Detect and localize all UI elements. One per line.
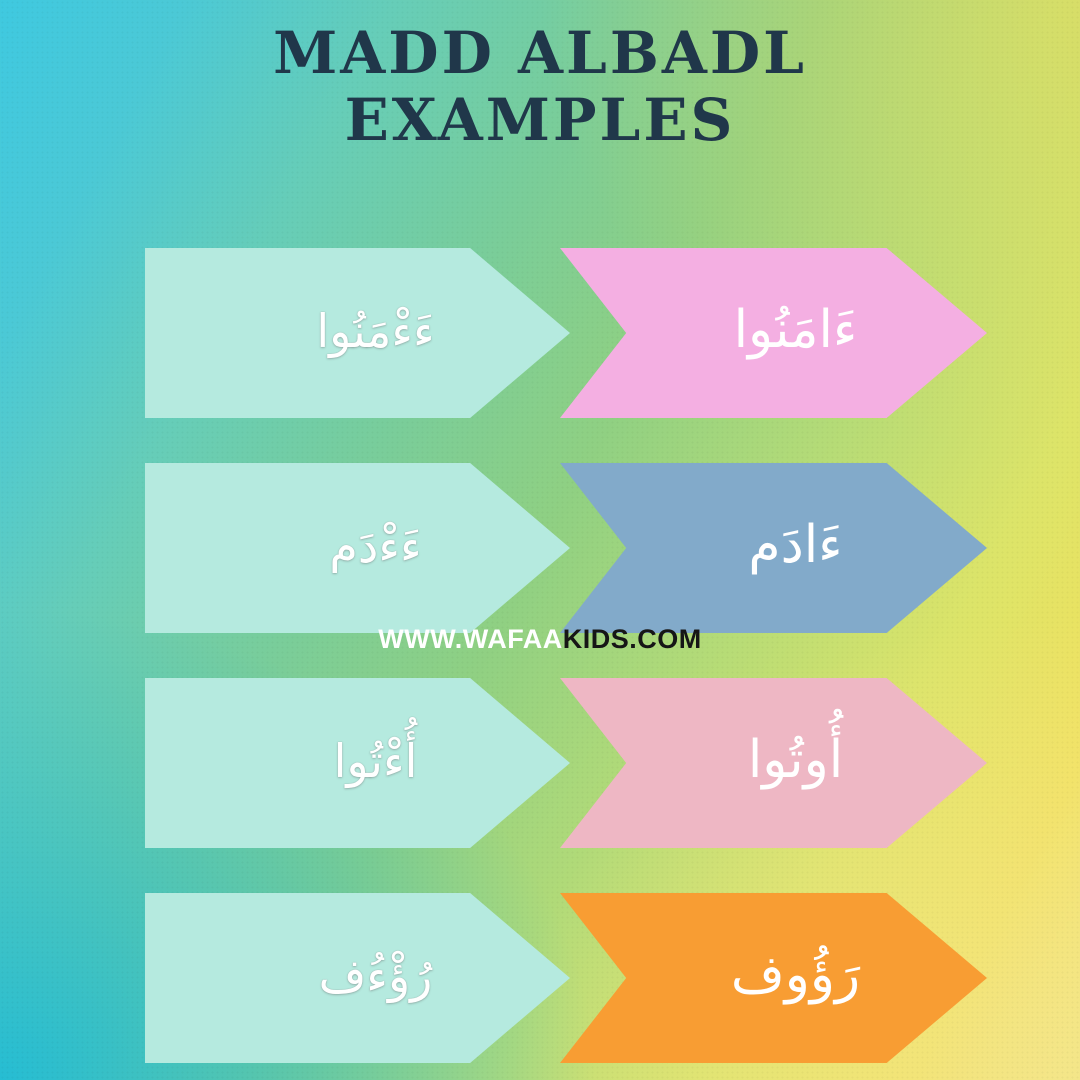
after-word-arrow[interactable]: رَؤُوف [560, 893, 987, 1063]
example-row: أُءْتُوا أُوتُوا [0, 678, 1080, 848]
title-line-1: MADD ALBADL [0, 22, 1080, 85]
example-row: ءَءْمَنُوا ءَامَنُوا [0, 248, 1080, 418]
after-word-text: ءَامَنُوا [734, 293, 858, 372]
after-word-text: أُوتُوا [748, 723, 843, 802]
examples-list: ءَءْمَنُوا ءَامَنُوا ءَءْدَم ءَادَم أُءْ… [0, 248, 1080, 1080]
after-word-text: ءَادَم [748, 508, 842, 587]
after-word-arrow[interactable]: أُوتُوا [560, 678, 987, 848]
before-word-arrow[interactable]: أُءْتُوا [145, 678, 570, 848]
before-word-text: ءَءْدَم [329, 513, 421, 584]
site-watermark: WWW.WAFAAKIDS.COM [0, 624, 1080, 655]
watermark-dark-part: KIDS.COM [563, 624, 702, 654]
before-word-arrow[interactable]: رُؤْءُف [145, 893, 570, 1063]
poster-canvas: MADD ALBADL EXAMPLES ءَءْمَنُوا ءَامَنُو… [0, 0, 1080, 1080]
page-title: MADD ALBADL EXAMPLES [0, 22, 1080, 151]
before-word-arrow[interactable]: ءَءْمَنُوا [145, 248, 570, 418]
before-word-text: ءَءْمَنُوا [316, 298, 434, 369]
before-word-text: رُؤْءُف [319, 943, 433, 1014]
watermark-light-part: WWW.WAFAA [378, 624, 562, 654]
example-row: رُؤْءُف رَؤُوف [0, 893, 1080, 1063]
title-line-2: EXAMPLES [0, 89, 1080, 152]
before-word-text: أُءْتُوا [334, 728, 418, 799]
after-word-text: رَؤُوف [731, 938, 860, 1017]
before-word-arrow[interactable]: ءَءْدَم [145, 463, 570, 633]
after-word-arrow[interactable]: ءَادَم [560, 463, 987, 633]
after-word-arrow[interactable]: ءَامَنُوا [560, 248, 987, 418]
example-row: ءَءْدَم ءَادَم [0, 463, 1080, 633]
